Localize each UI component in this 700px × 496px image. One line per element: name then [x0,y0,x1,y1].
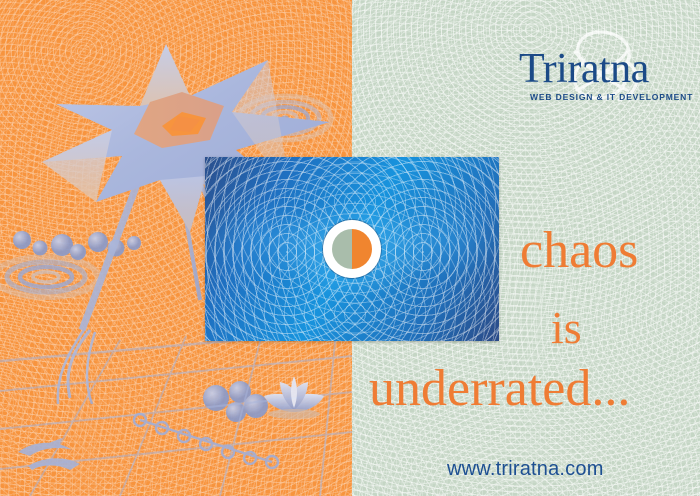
tagline-line-1: chaos [520,225,638,277]
ripple-rings-left-icon [0,257,98,297]
tagline-line-3: underrated... [369,363,630,415]
logo-wordmark: Triratna [519,48,649,90]
center-blue-artwork [205,157,499,341]
split-circle-emblem [323,220,381,278]
tagline-line-2: is [551,305,582,351]
emblem-inner [332,229,372,269]
lotus-flower-icon [264,376,324,419]
logo-tagline: WEB DESIGN & IT DEVELOPMENT [530,92,693,102]
circle-chain-icon [134,414,278,468]
emblem-half-sage [332,229,352,269]
sphere-cluster-lower-icon [203,381,268,422]
logo[interactable]: Triratna WEB DESIGN & IT DEVELOPMENT [505,28,690,106]
swoosh-icon [18,438,80,470]
promo-card: Triratna WEB DESIGN & IT DEVELOPMENT cha… [0,0,700,496]
ripple-rings-icon [239,96,331,140]
website-url[interactable]: www.triratna.com [447,458,604,481]
emblem-half-orange [352,229,372,269]
wireframe-landscape-icon [0,330,352,496]
sphere-cluster-icon [13,231,141,260]
